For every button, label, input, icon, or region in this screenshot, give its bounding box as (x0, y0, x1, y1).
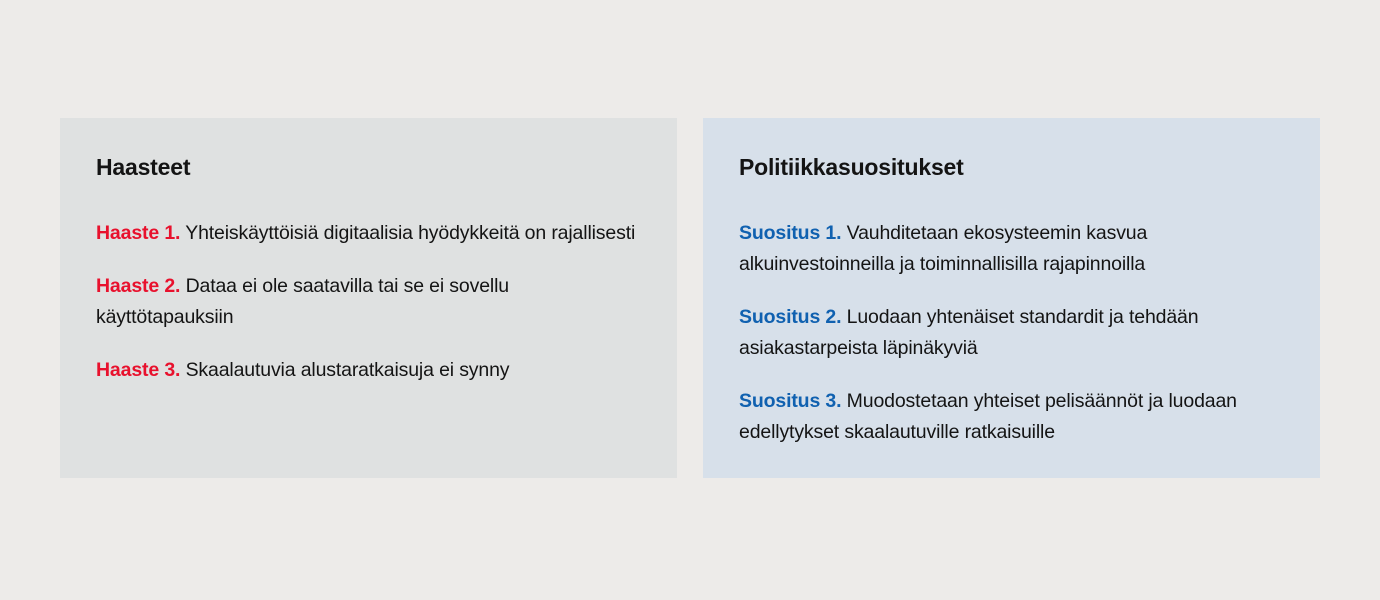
challenges-panel: Haasteet Haaste 1. Yhteiskäyttöisiä digi… (60, 118, 677, 478)
recommendation-item: Suositus 2. Luodaan yhtenäiset standardi… (739, 302, 1292, 364)
recommendation-item-label: Suositus 1. (739, 222, 841, 244)
challenge-item: Haaste 1. Yhteiskäyttöisiä digitaalisia … (96, 218, 649, 249)
recommendations-panel: Politiikkasuositukset Suositus 1. Vauhdi… (703, 118, 1320, 478)
recommendation-item: Suositus 1. Vauhditetaan ekosysteemin ka… (739, 218, 1292, 280)
recommendation-item-label: Suositus 2. (739, 306, 841, 328)
challenge-item-text: Skaalautuvia alustaratkaisuja ei synny (186, 359, 510, 381)
challenge-item-label: Haaste 3. (96, 359, 180, 381)
slide-canvas: Haasteet Haaste 1. Yhteiskäyttöisiä digi… (0, 0, 1380, 600)
recommendation-item: Suositus 3. Muodostetaan yhteiset pelisä… (739, 386, 1292, 448)
recommendations-panel-heading: Politiikkasuositukset (739, 154, 1292, 182)
recommendations-list: Suositus 1. Vauhditetaan ekosysteemin ka… (739, 218, 1292, 448)
challenge-item-text: Yhteiskäyttöisiä digitaalisia hyödykkeit… (185, 222, 635, 244)
challenge-item: Haaste 2. Dataa ei ole saatavilla tai se… (96, 271, 649, 333)
challenges-list: Haaste 1. Yhteiskäyttöisiä digitaalisia … (96, 218, 649, 386)
challenge-item-label: Haaste 1. (96, 222, 180, 244)
challenges-panel-heading: Haasteet (96, 154, 649, 182)
challenge-item: Haaste 3. Skaalautuvia alustaratkaisuja … (96, 355, 649, 386)
recommendation-item-label: Suositus 3. (739, 390, 841, 412)
challenge-item-label: Haaste 2. (96, 275, 180, 297)
